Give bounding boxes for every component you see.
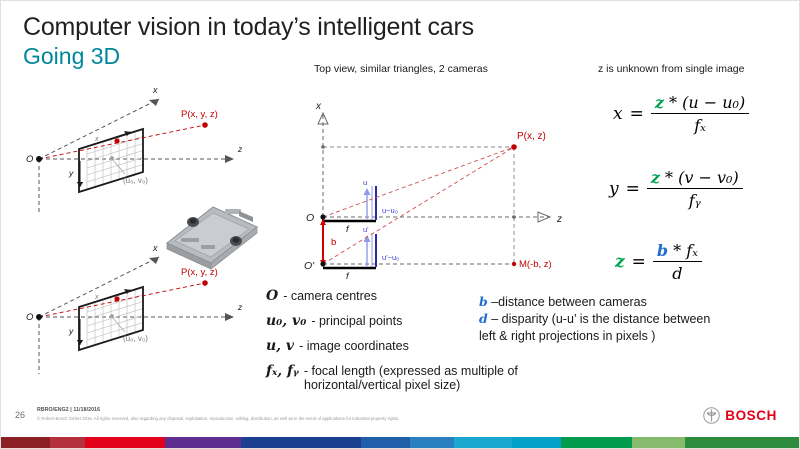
legend-symbol: u₀, v₀	[266, 314, 306, 328]
equation-y-denominator: fᵧ	[647, 188, 743, 210]
equation-x-numerator-rest: * (u − u₀)	[664, 93, 745, 112]
legend-row: fₓ, fᵧ - focal length (expressed as mult…	[266, 364, 481, 378]
equation-z-lhs: z	[615, 252, 625, 272]
colorbar-segment	[1, 437, 50, 448]
equation-y-numerator-rest: * (v − v₀)	[660, 168, 739, 187]
legend-symbol: u, v	[266, 339, 294, 353]
principal-point-label: (u₀, v₀)	[123, 176, 148, 185]
colorbar-segment	[410, 437, 454, 448]
point-p-label: P(x, z)	[517, 131, 546, 142]
legend-symbol-d: d	[479, 311, 488, 326]
colorbar-segment	[361, 437, 410, 448]
diagram-top-view-stereo: x z O O' b f f u u' u−u₀ u'−u₀ P(x, z) M…	[276, 89, 576, 289]
point-m-label: M(-b, z)	[519, 259, 552, 270]
legend-text: - camera centres	[283, 290, 377, 303]
legend-text-b: –distance between cameras	[491, 295, 647, 309]
axis-x-label: x	[315, 101, 322, 112]
footer-copyright: © Robert Bosch GmbH 2016. All rights res…	[37, 416, 399, 421]
equation-z-numerator-b: b	[657, 241, 668, 260]
page-number: 26	[15, 410, 25, 420]
colorbar-segment	[454, 437, 512, 448]
slide: Computer vision in today’s intelligent c…	[0, 0, 800, 449]
legend-row-d-continuation: left & right projections in pixels )	[479, 328, 800, 345]
legend-symbols: O - camera centres u₀, v₀ - principal po…	[266, 289, 481, 403]
axis-y-label: y	[68, 168, 74, 178]
equation-y: y = z * (v − v₀) fᵧ	[609, 168, 743, 210]
colorbar-segment	[165, 437, 241, 448]
legend-text-d: – disparity (u-u’ is the distance betwee…	[491, 312, 710, 326]
colorbar-segment	[632, 437, 685, 448]
legend-text: - principal points	[311, 315, 402, 328]
legend-symbol: fₓ, fᵧ	[266, 364, 299, 378]
legend-symbol: O	[266, 289, 278, 303]
axis-x-label: x	[152, 85, 158, 95]
legend-row-d: d – disparity (u-u’ is the distance betw…	[479, 311, 800, 328]
svg-text:x: x	[94, 136, 99, 143]
legend-symbol-b: b	[479, 294, 488, 309]
equation-z-denominator: d	[653, 261, 702, 283]
legend-row: u₀, v₀ - principal points	[266, 314, 481, 328]
legend-row: u, v - image coordinates	[266, 339, 481, 353]
stereo-camera-photo	[153, 197, 268, 272]
equation-x-denominator: fₓ	[651, 113, 749, 135]
u-label: u	[363, 178, 367, 187]
axis-z-label: z	[237, 302, 243, 312]
baseline-b-label: b	[331, 237, 336, 248]
axis-z-label: z	[556, 214, 562, 225]
point-p-label: P(x, y, z)	[181, 109, 218, 120]
legend-text-d-cont: left & right projections in pixels )	[479, 329, 655, 343]
equation-y-lhs: y	[609, 179, 619, 199]
bosch-wordmark: BOSCH	[725, 408, 777, 423]
footer-department: RBRO/ENG2 | 11/18/2016	[37, 407, 100, 413]
origin-label: O	[26, 312, 34, 323]
legend-text: - focal length (expressed as multiple of	[304, 365, 518, 378]
page-subtitle: Going 3D	[23, 43, 120, 70]
focal-f-top-label: f	[346, 224, 350, 235]
colorbar-segment	[512, 437, 561, 448]
origin-o-prime-label: O'	[304, 260, 315, 272]
equation-z: z = b * fₓ d	[615, 241, 702, 283]
legend-stereo-terms: b –distance between cameras d – disparit…	[479, 294, 800, 345]
legend-row-b: b –distance between cameras	[479, 294, 800, 311]
legend-row-continuation: horizontal/vertical pixel size)	[304, 379, 481, 392]
u-prime-label: u'	[363, 225, 369, 234]
colorbar-segment	[85, 437, 165, 448]
page-title: Computer vision in today’s intelligent c…	[23, 13, 474, 42]
colorbar-segment	[561, 437, 632, 448]
equation-y-numerator-z: z	[651, 168, 660, 187]
focal-f-bottom-label: f	[346, 271, 350, 282]
equation-x-lhs: x	[613, 104, 623, 124]
equation-x-numerator-z: z	[655, 93, 664, 112]
colorbar-segment	[50, 437, 86, 448]
equation-z-numerator-rest: * fₓ	[668, 241, 698, 260]
axis-z-label: z	[237, 144, 243, 154]
equation-x: x = z * (u − u₀) fₓ	[613, 93, 749, 135]
colorbar-segment	[685, 437, 800, 448]
caption-right-equations: z is unknown from single image	[598, 63, 744, 75]
bosch-supergraphic-bar	[1, 437, 800, 448]
svg-text:x: x	[94, 294, 99, 301]
diagram-3d-camera-top: x z y O P(x, y, z) (u₀, v₀) x	[9, 79, 274, 214]
legend-text: horizontal/vertical pixel size)	[304, 379, 460, 392]
legend-text: - image coordinates	[299, 340, 409, 353]
colorbar-segment	[241, 437, 361, 448]
bosch-logo: BOSCH	[703, 407, 777, 424]
bosch-anchor-icon	[703, 407, 720, 424]
principal-point-label: (u₀, v₀)	[123, 334, 148, 343]
origin-o-label: O	[306, 212, 314, 224]
origin-label: O	[26, 154, 34, 165]
caption-center-diagram: Top view, similar triangles, 2 cameras	[314, 63, 488, 75]
disparity-bottom-label: u'−u₀	[382, 253, 399, 262]
disparity-top-label: u−u₀	[382, 206, 398, 215]
axis-y-label: y	[68, 326, 74, 336]
legend-row: O - camera centres	[266, 289, 481, 303]
